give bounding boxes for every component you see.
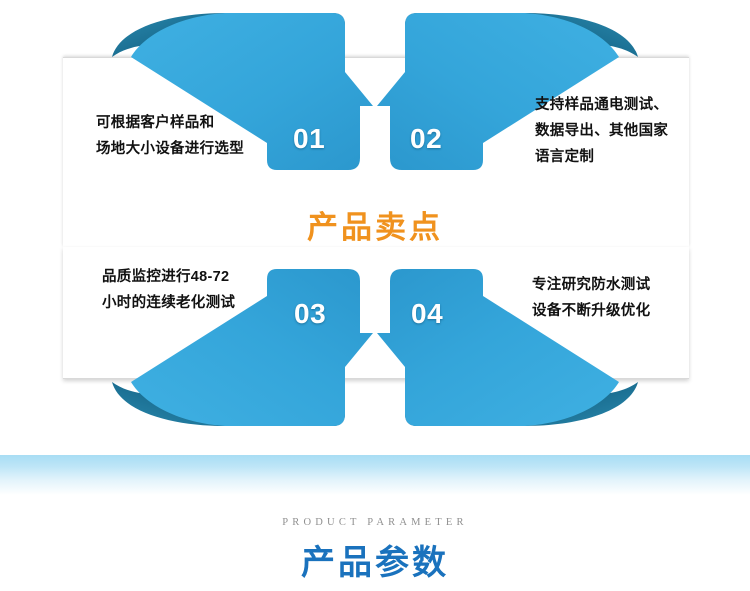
selling-point-2-text: 支持样品通电测试、 数据导出、其他国家 语言定制 bbox=[535, 92, 668, 170]
selling-point-4-line-2: 设备不断升级优化 bbox=[532, 298, 650, 324]
selling-point-4-line-1: 专注研究防水测试 bbox=[532, 272, 650, 298]
selling-point-1-number: 01 bbox=[293, 123, 325, 155]
blue-gradient-divider bbox=[0, 455, 750, 495]
selling-point-4-text: 专注研究防水测试 设备不断升级优化 bbox=[532, 272, 650, 324]
selling-point-1-line-1: 可根据客户样品和 bbox=[96, 110, 244, 136]
selling-points-section: 可根据客户样品和 场地大小设备进行选型 支持样品通电测试、 数据导出、其他国家 … bbox=[0, 0, 750, 455]
selling-point-2-line-3: 语言定制 bbox=[535, 144, 668, 170]
selling-point-3-line-2: 小时的连续老化测试 bbox=[102, 290, 235, 316]
selling-point-3-line-1: 品质监控进行48-72 bbox=[102, 264, 235, 290]
selling-point-4-number: 04 bbox=[411, 298, 443, 330]
selling-point-1-line-2: 场地大小设备进行选型 bbox=[96, 136, 244, 162]
selling-points-title: 产品卖点 bbox=[0, 202, 750, 247]
product-parameter-section: PRODUCT PARAMETER 产品参数 bbox=[0, 495, 750, 591]
product-parameter-english-label: PRODUCT PARAMETER bbox=[0, 517, 750, 528]
selling-point-3-text: 品质监控进行48-72 小时的连续老化测试 bbox=[102, 264, 235, 316]
product-detail-page: 可根据客户样品和 场地大小设备进行选型 支持样品通电测试、 数据导出、其他国家 … bbox=[0, 0, 750, 591]
selling-point-2-number: 02 bbox=[410, 123, 442, 155]
product-parameter-title: 产品参数 bbox=[0, 535, 750, 584]
selling-point-1-text: 可根据客户样品和 场地大小设备进行选型 bbox=[96, 110, 244, 162]
selling-point-3-number: 03 bbox=[294, 298, 326, 330]
selling-point-2-line-2: 数据导出、其他国家 bbox=[535, 118, 668, 144]
selling-point-2-line-1: 支持样品通电测试、 bbox=[535, 92, 668, 118]
